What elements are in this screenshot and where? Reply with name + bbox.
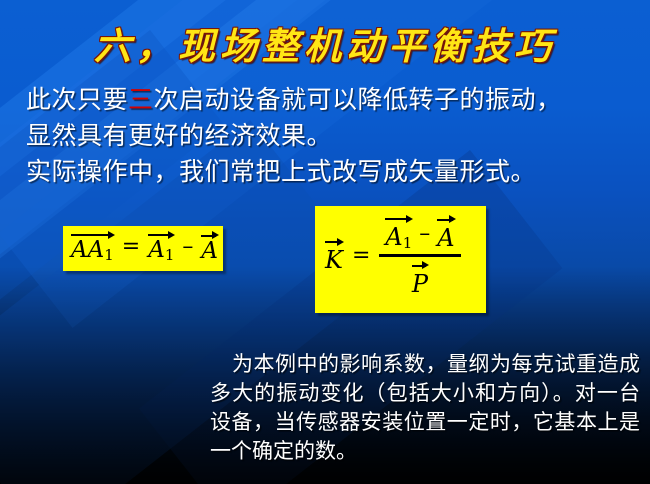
body-line-1-part2: 次启动设备就可以降低转子的振动， <box>154 85 562 114</box>
vector-A-base: A <box>201 240 218 263</box>
vector-K-base: K <box>325 246 343 274</box>
equals-sign: = <box>121 236 141 258</box>
body-line-1-highlight: 三 <box>128 85 154 114</box>
vector-A1-num-subscript: 1 <box>403 234 413 252</box>
formula-box-vector-difference: AA1 = A1 – A <box>63 226 223 271</box>
bottom-paragraph: 为本例中的影响系数，量纲为每克试重造成多大的振动变化（包括大小和方向）。对一台设… <box>210 350 640 466</box>
vector-AA1: AA1 <box>71 230 114 263</box>
slide-title: 六，现场整机动平衡技巧 <box>0 16 650 70</box>
vector-A: A <box>201 231 218 263</box>
vector-AA1-base: AA <box>71 239 104 262</box>
body-line-3: 实际操作中，我们常把上式改写成矢量形式。 <box>26 152 536 188</box>
vector-A1-num-base: A <box>385 223 402 251</box>
fraction: A1 – A P <box>379 214 460 298</box>
vector-P: P <box>412 261 428 298</box>
vector-AA1-subscript: 1 <box>104 246 114 264</box>
vector-P-base: P <box>412 270 428 298</box>
vector-A-num: A <box>437 215 454 252</box>
vector-A1: A1 <box>148 230 174 263</box>
fraction-numerator: A1 – A <box>379 214 460 254</box>
body-line-1: 此次只要三次启动设备就可以降低转子的振动， <box>26 80 562 116</box>
vector-A1-subscript: 1 <box>165 246 175 264</box>
slide-canvas: 六，现场整机动平衡技巧 此次只要三次启动设备就可以降低转子的振动， 显然具有更好… <box>0 0 650 484</box>
vector-A1-num: A1 <box>385 214 412 252</box>
body-line-2: 显然具有更好的经济效果。 <box>26 116 332 152</box>
body-line-1-part1: 此次只要 <box>26 85 128 114</box>
minus-sign: – <box>181 236 194 258</box>
vector-A-num-base: A <box>437 224 454 252</box>
fraction-denominator: P <box>406 257 434 298</box>
minus-sign-2: – <box>418 221 431 246</box>
formula-box-influence-coefficient: K = A1 – A P <box>315 206 486 313</box>
vector-K: K <box>325 237 343 274</box>
formula-2-content: K = A1 – A P <box>325 214 461 298</box>
formula-1-content: AA1 = A1 – A <box>71 230 218 263</box>
equals-sign-2: = <box>351 243 371 268</box>
vector-A1-base: A <box>148 239 165 262</box>
